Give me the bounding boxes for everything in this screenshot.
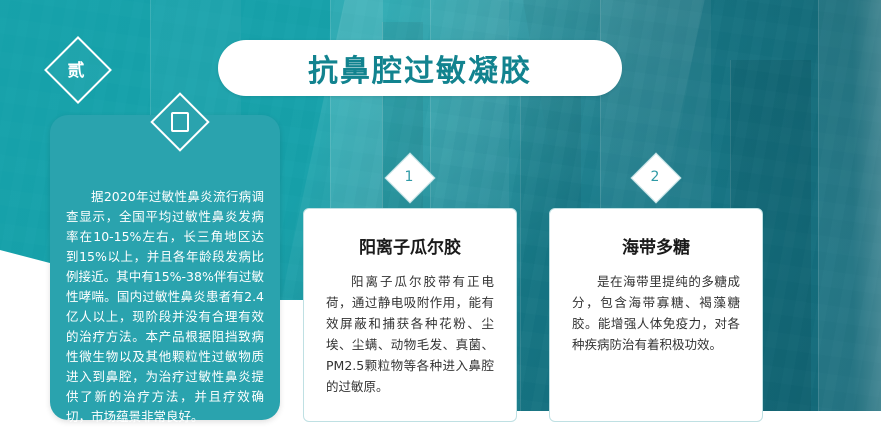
right-fade <box>811 0 881 411</box>
content-card-1-title: 阳离子瓜尔胶 <box>304 233 516 258</box>
page-title: 抗鼻腔过敏凝胶 <box>308 46 532 90</box>
intro-card: 据2020年过敏性鼻炎流行病调查显示，全国平均过敏性鼻炎发病率在10-15%左右… <box>50 115 280 420</box>
document-diamond-icon <box>155 97 201 143</box>
section-number-text: 贰 <box>46 38 106 98</box>
content-card-1-number: 1 <box>387 155 431 199</box>
square-outline-icon <box>171 112 189 132</box>
slide-title-pill: 抗鼻腔过敏凝胶 <box>218 40 622 96</box>
content-card-1-text: 阳离子瓜尔胶带有正电荷，通过静电吸附作用，能有效屏蔽和捕获各种花粉、尘埃、尘螨、… <box>326 271 494 397</box>
content-card-1: 阳离子瓜尔胶 阳离子瓜尔胶带有正电荷，通过静电吸附作用，能有效屏蔽和捕获各种花粉… <box>303 208 517 422</box>
content-card-1-number-badge: 1 <box>387 155 431 199</box>
content-card-2-title: 海带多糖 <box>550 233 762 258</box>
content-card-2-text: 是在海带里提纯的多糖成分，包含海带寡糖、褐藻糖胶。能增强人体免疫力，对各种疾病防… <box>572 271 740 355</box>
content-card-2-number: 2 <box>633 155 677 199</box>
slide-canvas: 贰 抗鼻腔过敏凝胶 据2020年过敏性鼻炎流行病调查显示，全国平均过敏性鼻炎发病… <box>0 0 881 431</box>
section-number-badge: 贰 <box>46 38 106 98</box>
content-card-2: 海带多糖 是在海带里提纯的多糖成分，包含海带寡糖、褐藻糖胶。能增强人体免疫力，对… <box>549 208 763 422</box>
intro-card-text: 据2020年过敏性鼻炎流行病调查显示，全国平均过敏性鼻炎发病率在10-15%左右… <box>66 187 264 427</box>
content-card-2-number-badge: 2 <box>633 155 677 199</box>
